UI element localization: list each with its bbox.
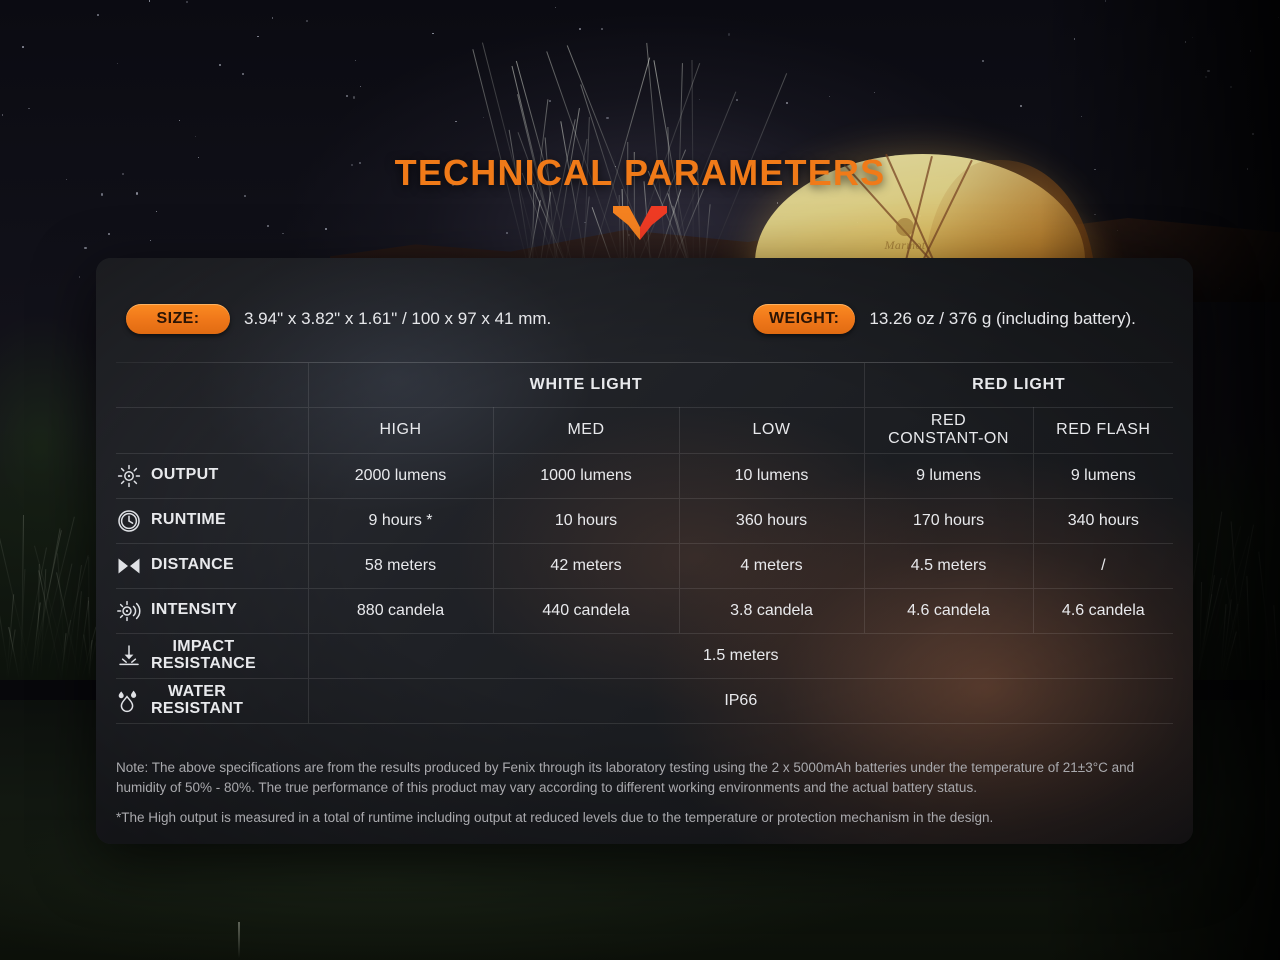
clock-icon xyxy=(116,508,142,534)
cell-output-2: 10 lumens xyxy=(679,453,864,498)
row-label-text: WATERRESISTANT xyxy=(151,684,243,718)
star xyxy=(219,64,221,66)
impact-icon xyxy=(116,643,142,669)
weight-value: 13.26 oz / 376 g (including battery). xyxy=(869,309,1136,329)
weight-group: WEIGHT: 13.26 oz / 376 g (including batt… xyxy=(753,304,1136,334)
specifications-table: WHITE LIGHT RED LIGHT HIGH MED LOW RED C… xyxy=(116,363,1173,724)
size-group: SIZE: 3.94" x 3.82" x 1.61" / 100 x 97 x… xyxy=(126,304,551,334)
notes-block: Note: The above specifications are from … xyxy=(116,758,1173,828)
group-header-white-light: WHITE LIGHT xyxy=(308,363,864,407)
star xyxy=(22,46,24,48)
note-main: Note: The above specifications are from … xyxy=(116,758,1173,797)
foreground-stick xyxy=(238,922,240,958)
star xyxy=(272,17,273,18)
star xyxy=(28,108,29,109)
star xyxy=(353,96,355,98)
mode-header-blank xyxy=(116,407,308,453)
star xyxy=(242,73,243,74)
star xyxy=(982,60,984,62)
mode-header-med: MED xyxy=(493,407,679,453)
star xyxy=(97,14,99,16)
spec-panel: SIZE: 3.94" x 3.82" x 1.61" / 100 x 97 x… xyxy=(96,258,1193,844)
chevron-down-icon xyxy=(613,206,667,240)
star xyxy=(579,28,581,30)
star xyxy=(306,20,308,22)
cell-intensity-3: 4.6 candela xyxy=(864,588,1033,633)
cell-distance-4: / xyxy=(1033,543,1173,588)
size-weight-row: SIZE: 3.94" x 3.82" x 1.61" / 100 x 97 x… xyxy=(96,258,1193,363)
red-constant-line2: CONSTANT-ON xyxy=(888,430,1009,447)
star xyxy=(728,33,730,35)
table-row: WATERRESISTANTIP66 xyxy=(116,678,1173,723)
cell-distance-2: 4 meters xyxy=(679,543,864,588)
size-value: 3.94" x 3.82" x 1.61" / 100 x 97 x 41 mm… xyxy=(244,309,551,329)
cell-output-0: 2000 lumens xyxy=(308,453,493,498)
cell-intensity-1: 440 candela xyxy=(493,588,679,633)
cell-output-1: 1000 lumens xyxy=(493,453,679,498)
mode-header-row: HIGH MED LOW RED CONSTANT-ON RED FLASH xyxy=(116,407,1173,453)
red-constant-line1: RED xyxy=(931,412,966,429)
chevron-right-half xyxy=(640,206,667,240)
group-header-row: WHITE LIGHT RED LIGHT xyxy=(116,363,1173,407)
star xyxy=(601,28,603,30)
star xyxy=(555,7,556,8)
cell-intensity-2: 3.8 candela xyxy=(679,588,864,633)
title-block: TECHNICAL PARAMETERS xyxy=(0,152,1280,240)
chevron-left-half xyxy=(613,206,640,240)
tent-brand-text: Marmot xyxy=(884,238,925,252)
mode-header-high: HIGH xyxy=(308,407,493,453)
weight-badge: WEIGHT: xyxy=(753,304,855,334)
table-row: INTENSITY880 candela440 candela3.8 cande… xyxy=(116,588,1173,633)
mode-header-red-constant-on: RED CONSTANT-ON xyxy=(864,407,1033,453)
star xyxy=(186,1,188,3)
water-drop-icon xyxy=(116,688,142,714)
cell-runtime-1: 10 hours xyxy=(493,498,679,543)
star xyxy=(455,121,457,123)
star xyxy=(346,95,348,97)
row-label-output: OUTPUT xyxy=(116,453,308,498)
cell-distance-1: 42 meters xyxy=(493,543,679,588)
cell-runtime-2: 360 hours xyxy=(679,498,864,543)
table-row: RUNTIME9 hours *10 hours360 hours170 hou… xyxy=(116,498,1173,543)
star xyxy=(483,117,484,118)
cell-distance-3: 4.5 meters xyxy=(864,543,1033,588)
star xyxy=(117,63,118,64)
row-label-runtime: RUNTIME xyxy=(116,498,308,543)
mode-header-low: LOW xyxy=(679,407,864,453)
row-label-intensity: INTENSITY xyxy=(116,588,308,633)
group-header-red-light: RED LIGHT xyxy=(864,363,1173,407)
page-title: TECHNICAL PARAMETERS xyxy=(0,152,1280,194)
star xyxy=(432,33,433,34)
table-row: DISTANCE58 meters42 meters4 meters4.5 me… xyxy=(116,543,1173,588)
cell-runtime-4: 340 hours xyxy=(1033,498,1173,543)
row-label-text: INTENSITY xyxy=(151,602,237,619)
row-label-impact: IMPACTRESISTANCE xyxy=(116,633,308,678)
row-label-text: DISTANCE xyxy=(151,557,234,574)
cell-output-4: 9 lumens xyxy=(1033,453,1173,498)
star xyxy=(355,60,356,61)
mode-header-red-flash: RED FLASH xyxy=(1033,407,1173,453)
row-label-water: WATERRESISTANT xyxy=(116,678,308,723)
star xyxy=(179,120,180,121)
table-row: OUTPUT2000 lumens1000 lumens10 lumens9 l… xyxy=(116,453,1173,498)
star xyxy=(195,136,196,137)
cell-distance-0: 58 meters xyxy=(308,543,493,588)
cell-runtime-3: 170 hours xyxy=(864,498,1033,543)
cell-water-value: IP66 xyxy=(308,678,1173,723)
row-label-text: IMPACTRESISTANCE xyxy=(151,639,256,673)
star xyxy=(257,36,258,37)
size-badge: SIZE: xyxy=(126,304,230,334)
star xyxy=(360,86,361,87)
star xyxy=(149,0,151,2)
beam-icon xyxy=(116,553,142,579)
row-label-text: RUNTIME xyxy=(151,512,226,529)
row-label-text: OUTPUT xyxy=(151,467,219,484)
note-asterisk: *The High output is measured in a total … xyxy=(116,808,1173,828)
cell-runtime-0: 9 hours * xyxy=(308,498,493,543)
group-header-blank xyxy=(116,363,308,407)
row-label-distance: DISTANCE xyxy=(116,543,308,588)
cell-output-3: 9 lumens xyxy=(864,453,1033,498)
cell-intensity-4: 4.6 candela xyxy=(1033,588,1173,633)
sun-icon xyxy=(116,463,142,489)
table-row: IMPACTRESISTANCE1.5 meters xyxy=(116,633,1173,678)
intensity-icon xyxy=(116,598,142,624)
cell-impact-value: 1.5 meters xyxy=(308,633,1173,678)
star xyxy=(2,114,3,115)
cell-intensity-0: 880 candela xyxy=(308,588,493,633)
